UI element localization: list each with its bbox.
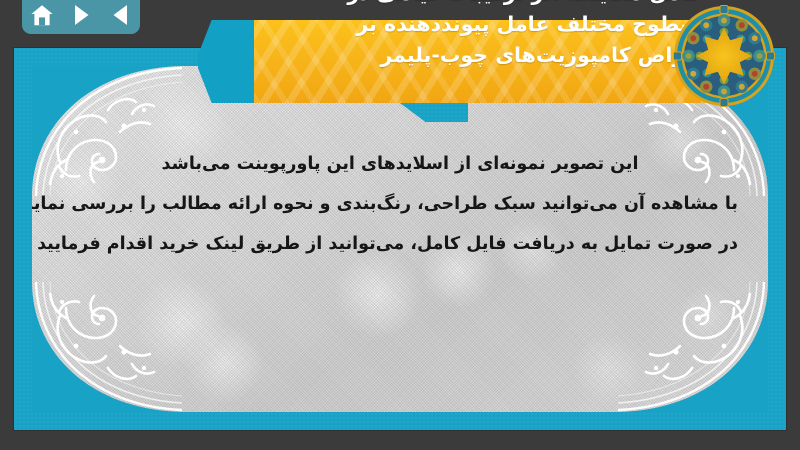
home-icon: [30, 4, 54, 27]
next-triangle-icon: [73, 4, 90, 26]
slide-preview-stage: کامل مقایسه اثر ترکیبات گیاهی در سطوح مخ…: [0, 0, 800, 450]
banner-gold-body: [254, 20, 708, 103]
arabesque-corner-ornament-bottom-right: [618, 282, 768, 412]
banner-arrow-pointer: [198, 20, 260, 103]
navigation-controls: [22, 0, 140, 34]
home-button[interactable]: [27, 1, 57, 29]
title-line-1: کامل مقایسه اثر ترکیبات گیاهی در: [220, 0, 700, 9]
body-line-1: این تصویر نمونه‌ای از اسلایدهای این پاور…: [62, 144, 738, 184]
title-banner: کامل مقایسه اثر ترکیبات گیاهی در سطوح مخ…: [198, 0, 708, 103]
prev-triangle-icon: [112, 4, 129, 26]
body-line-2: با مشاهده آن می‌توانید سبک طراحی، رنگ‌بن…: [62, 184, 738, 224]
slide-card: این تصویر نمونه‌ای از اسلایدهای این پاور…: [14, 48, 786, 430]
prev-button[interactable]: [105, 1, 135, 29]
arabesque-corner-ornament-bottom-left: [32, 282, 182, 412]
slide-content-panel: این تصویر نمونه‌ای از اسلایدهای این پاور…: [32, 66, 768, 412]
body-line-3: در صورت تمایل به دریافت فایل کامل، می‌تو…: [62, 224, 738, 264]
slide-body-text: این تصویر نمونه‌ای از اسلایدهای این پاور…: [62, 144, 738, 264]
next-button[interactable]: [66, 1, 96, 29]
persian-medallion-ornament: [672, 4, 776, 108]
